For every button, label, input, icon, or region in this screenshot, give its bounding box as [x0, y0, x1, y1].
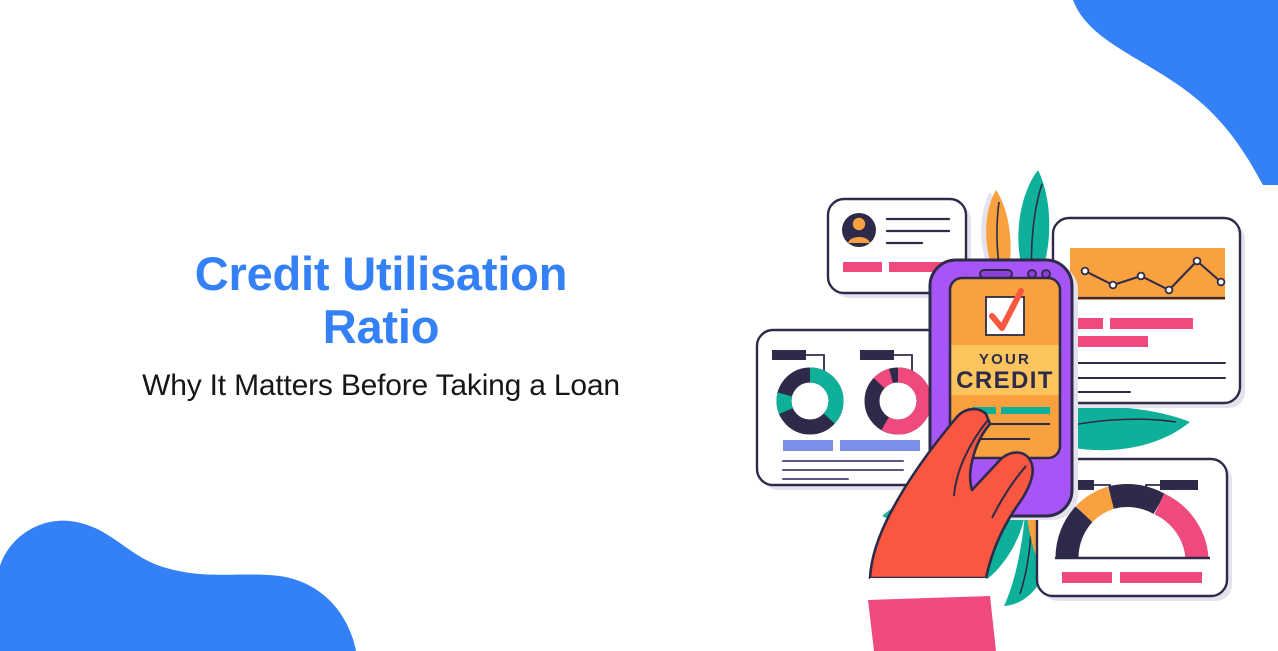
line-chart-card[interactable] — [1053, 218, 1245, 408]
gauge-card-bars — [1062, 572, 1202, 583]
donut-card-bars — [783, 440, 920, 451]
line-chart-plot — [1070, 248, 1225, 300]
credit-illustration: YOUR CREDIT — [740, 158, 1278, 651]
page-subtitle: Why It Matters Before Taking a Loan — [0, 369, 762, 403]
avatar-icon — [842, 213, 876, 247]
page-title: Credit Utilisation Ratio — [0, 248, 762, 353]
page-title-line-2: Ratio — [0, 301, 762, 354]
page-title-line-1: Credit Utilisation — [0, 248, 762, 301]
banner-root: Credit Utilisation Ratio Why It Matters … — [0, 0, 1278, 651]
blue-wave-bottom-left-icon — [0, 476, 360, 651]
text-block: Credit Utilisation Ratio Why It Matters … — [0, 248, 762, 403]
phone-label-credit: CREDIT — [956, 367, 1054, 394]
phone-label-your: YOUR — [979, 351, 1031, 368]
